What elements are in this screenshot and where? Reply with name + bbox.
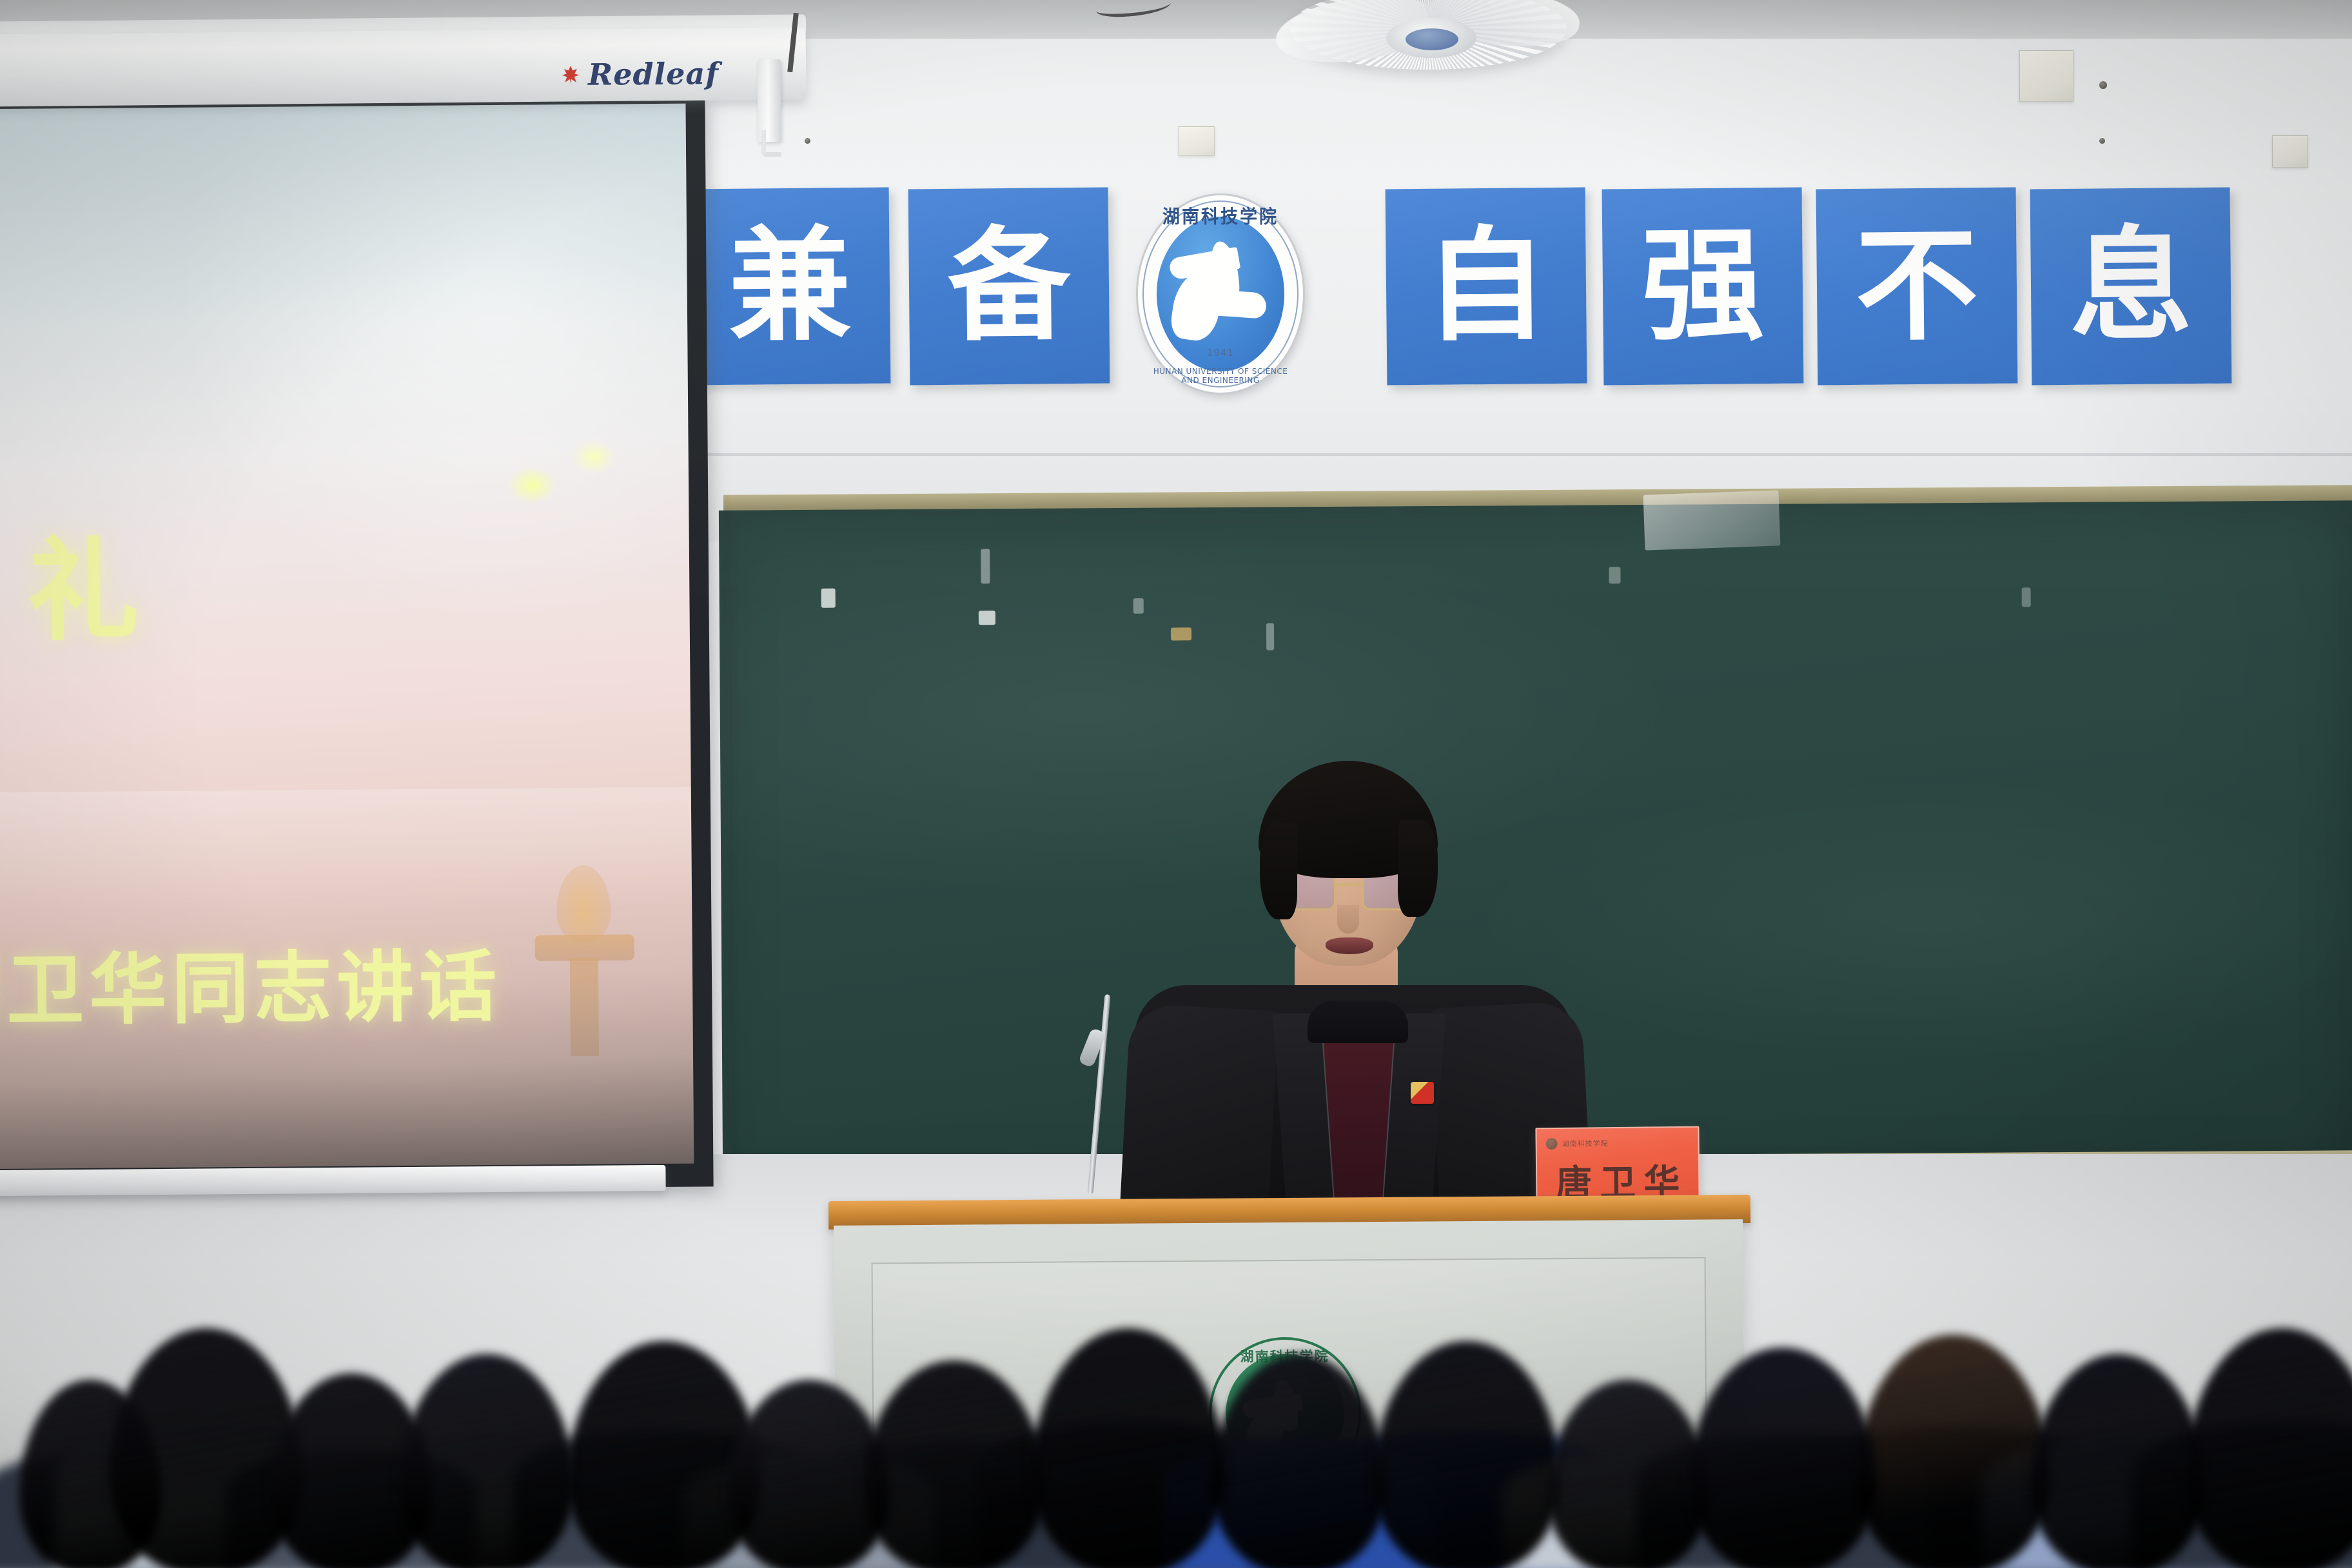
audience-head <box>1689 1347 1876 1568</box>
projection-screen: 典 礼 记唐卫华同志讲话 <box>0 97 714 1192</box>
wall-plate <box>1179 126 1215 156</box>
projection-screen-surface: 典 礼 记唐卫华同志讲话 <box>0 104 694 1170</box>
audience-head <box>1547 1380 1709 1568</box>
motto-char: 不 <box>1855 224 1979 348</box>
party-emblem-pin-icon <box>1411 1082 1434 1104</box>
wall-plate <box>2272 135 2308 168</box>
motto-panel-3: 自 <box>1386 188 1587 386</box>
motto-char: 自 <box>1424 224 1548 348</box>
slide-torch-graphic <box>523 865 647 1059</box>
ceiling-cable <box>1096 0 1173 23</box>
redleaf-logo-icon <box>562 66 579 84</box>
speaker-hair-side <box>1260 823 1297 919</box>
ceiling-fan-icon <box>1289 0 1567 85</box>
slide-title-line1: 典 礼 <box>0 500 165 663</box>
audience-head <box>1373 1341 1560 1568</box>
speaker-hair-side <box>1398 820 1438 917</box>
motto-char: 强 <box>1641 224 1765 348</box>
wall-screw <box>2099 138 2105 144</box>
motto-panel-1: 兼 <box>689 188 891 386</box>
emblem-bird-icon <box>1166 231 1269 347</box>
motto-panel-6: 息 <box>2030 188 2232 386</box>
speaker-collar <box>1308 1001 1408 1043</box>
emblem-name-cn: 湖南科技学院 <box>1136 202 1305 228</box>
screen-mount-bracket <box>758 59 781 142</box>
audience-head <box>2186 1328 2352 1568</box>
motto-panel-5: 不 <box>1816 188 2018 386</box>
audience <box>0 1148 2352 1568</box>
slide-glare <box>507 465 557 505</box>
audience-head <box>864 1360 1044 1568</box>
audience-head <box>110 1328 303 1568</box>
motto-char: 兼 <box>728 224 852 348</box>
speaker-mouth <box>1326 937 1373 954</box>
audience-head <box>400 1354 574 1568</box>
motto-panel-4: 强 <box>1602 188 1804 386</box>
motto-panel-2: 备 <box>908 188 1110 386</box>
wall-screw <box>2099 81 2107 89</box>
lecture-hall-photo: 兼 备 自 强 不 息 湖南科技学院 1941 HUNAN UNIVERSITY… <box>0 0 2352 1568</box>
slide-glare <box>571 439 616 475</box>
fan-hub-cap <box>1406 28 1458 50</box>
audience-head <box>567 1341 761 1568</box>
emblem-year: 1941 <box>1136 347 1305 358</box>
university-emblem-icon: 湖南科技学院 1941 HUNAN UNIVERSITY OF SCIENCE … <box>1136 193 1305 395</box>
motto-char: 备 <box>947 224 1071 348</box>
chalkboard-tape <box>1643 490 1781 550</box>
audience-head <box>1857 1335 2050 1568</box>
wall-plate <box>2019 50 2073 102</box>
audience-head <box>1212 1354 1386 1568</box>
screen-brand: Redleaf <box>562 56 719 92</box>
slide-title-line2: 记唐卫华同志讲话 <box>0 924 502 1041</box>
wall-screw <box>805 138 810 144</box>
audience-head <box>2031 1354 2205 1568</box>
speaker-nose <box>1337 905 1359 934</box>
screen-brand-label: Redleaf <box>588 56 719 92</box>
emblem-name-en: HUNAN UNIVERSITY OF SCIENCE AND ENGINEER… <box>1136 367 1305 386</box>
motto-char: 息 <box>2069 224 2193 348</box>
audience-head <box>1032 1328 1225 1568</box>
